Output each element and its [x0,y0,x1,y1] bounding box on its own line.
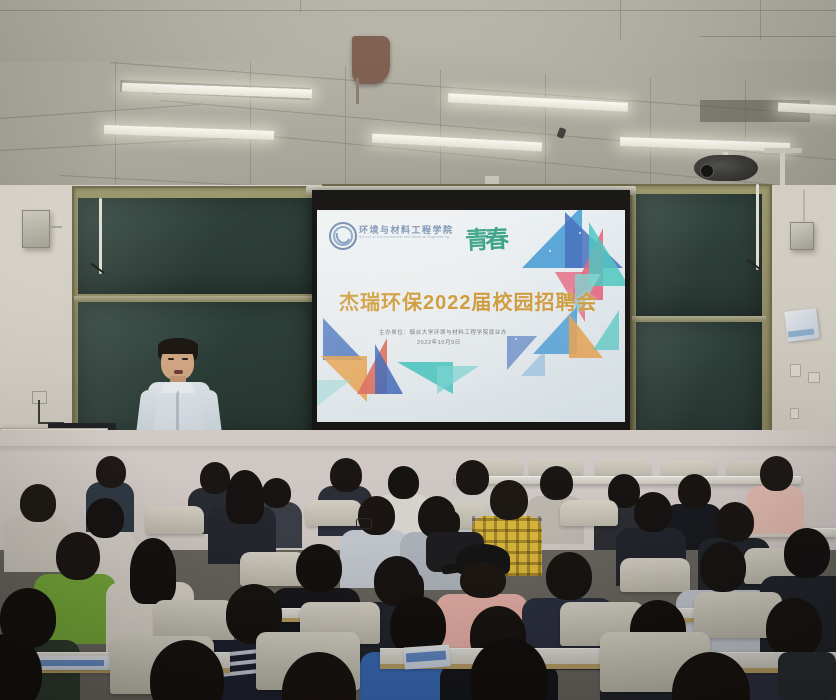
seat [560,500,618,526]
wall-speaker-left [22,210,50,248]
light-switch[interactable] [808,372,820,383]
student-head [460,562,506,598]
light-switch[interactable] [790,364,801,377]
student-head-long-hair [226,470,264,524]
seat [306,500,362,526]
student-head [716,502,754,542]
light-switch[interactable] [790,408,799,419]
student-head [86,498,124,538]
student-head [456,460,489,495]
student-head [678,474,711,509]
student-head [96,456,126,488]
projector-lens [700,164,714,178]
student-head [760,456,793,491]
power-cable [38,400,40,424]
pointer-stick-left[interactable] [99,198,102,274]
audience-area [0,440,836,700]
student-head [20,484,56,522]
lecture-hall-photo: 环境与材料工程学院 School of Environmental and Ma… [0,0,836,700]
student-head [634,492,672,532]
student-head [330,458,362,492]
ceiling [0,0,836,200]
presentation-slide: 环境与材料工程学院 School of Environmental and Ma… [317,210,625,422]
student-head [56,532,100,580]
seat [146,506,204,534]
student-head [388,466,419,499]
student-head [200,462,230,494]
student-head [546,552,592,600]
seat [620,558,690,592]
student-head [358,496,395,535]
student-head-long-hair [130,538,176,604]
pointer-stick-right[interactable] [756,184,759,270]
student-head [540,466,573,500]
eyeglasses [356,518,372,529]
student-head [784,528,830,578]
student-head [262,478,291,508]
student-head [766,598,822,658]
wall-speaker-right [790,222,814,250]
student-head [296,544,342,592]
student-head [700,542,746,592]
projection-screen: 环境与材料工程学院 School of Environmental and Ma… [312,190,630,444]
student-head [490,480,528,520]
hanging-object [352,36,390,84]
backpack [778,652,836,700]
